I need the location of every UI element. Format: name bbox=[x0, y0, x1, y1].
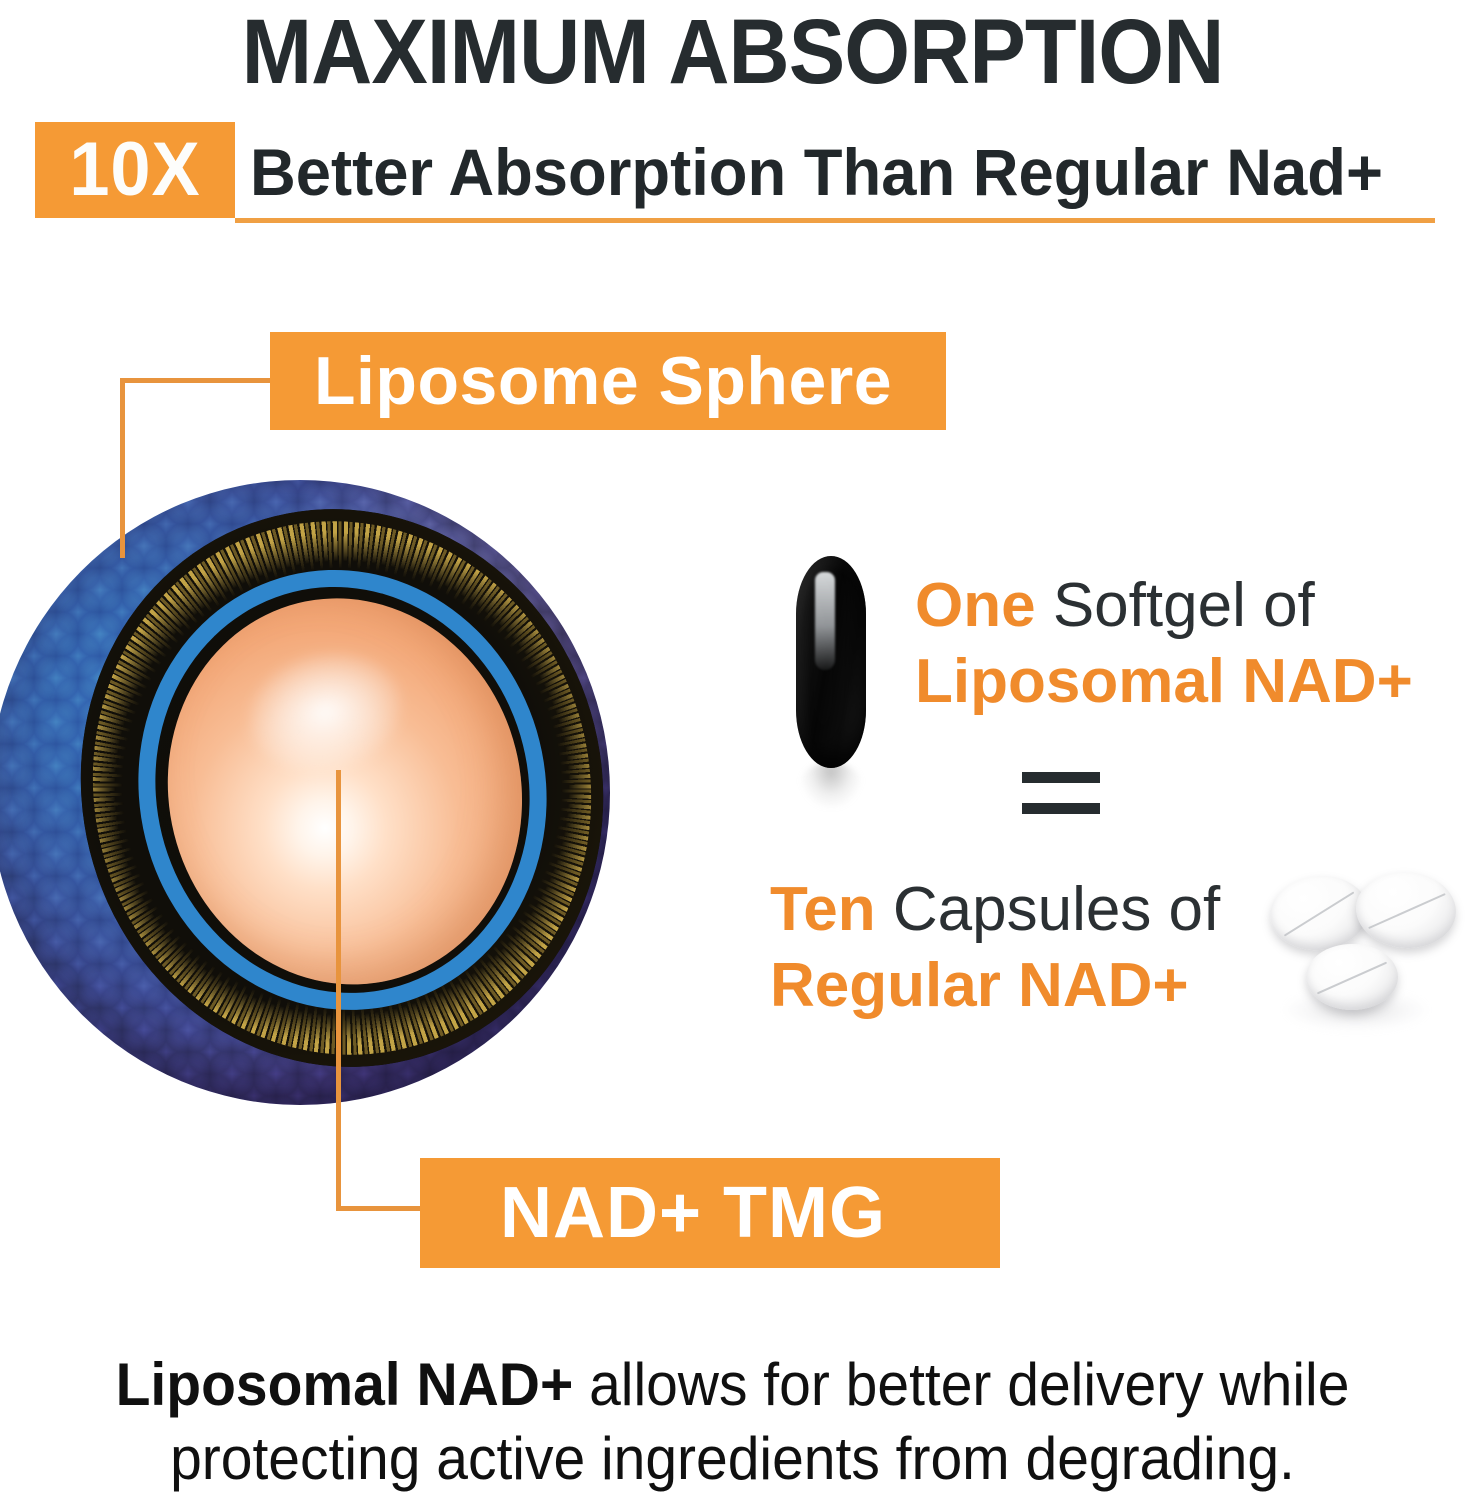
comparison-top-text: One Softgel of Liposomal NAD+ bbox=[915, 568, 1413, 720]
tablet-right bbox=[1353, 869, 1458, 952]
tablets-image bbox=[1268, 862, 1458, 1052]
leader-line-liposome-horizontal bbox=[120, 378, 272, 383]
product-infographic: MAXIMUM ABSORPTION 10X Better Absorption… bbox=[0, 0, 1465, 1494]
header-divider bbox=[235, 218, 1435, 223]
core-highlight bbox=[236, 637, 414, 787]
tablet-front bbox=[1306, 944, 1398, 1010]
page-title: MAXIMUM ABSORPTION bbox=[59, 2, 1407, 102]
comparison-top-rest: Softgel of bbox=[1036, 571, 1315, 640]
subtitle-text: Better Absorption Than Regular Nad+ bbox=[250, 126, 1383, 218]
callout-liposome-sphere-label: Liposome Sphere bbox=[314, 342, 892, 420]
leader-line-liposome-vertical bbox=[120, 378, 125, 558]
footer-bold-lead: Liposomal NAD+ bbox=[116, 1351, 574, 1418]
footer-line2: protecting active ingredients from degra… bbox=[170, 1425, 1295, 1492]
comparison-top-emphasis: One bbox=[915, 571, 1036, 640]
comparison-bottom-rest: Capsules of bbox=[876, 875, 1221, 944]
subtitle-row: 10X Better Absorption Than Regular Nad+ bbox=[35, 122, 1435, 222]
multiplier-badge: 10X bbox=[35, 122, 235, 218]
equals-sign-icon bbox=[1022, 772, 1100, 814]
callout-liposome-sphere: Liposome Sphere bbox=[270, 332, 946, 430]
leader-line-nadtmg-horizontal bbox=[336, 1206, 424, 1211]
footer-rest-line1: allows for better delivery while bbox=[573, 1351, 1349, 1418]
liposome-illustration bbox=[0, 480, 610, 1105]
comparison-bottom-product: Regular NAD+ bbox=[770, 951, 1189, 1020]
softgel-reflection bbox=[800, 762, 862, 808]
callout-nad-tmg-label: NAD+ TMG bbox=[500, 1172, 886, 1254]
comparison-bottom-text: Ten Capsules of Regular NAD+ bbox=[770, 872, 1220, 1024]
leader-line-nadtmg-vertical bbox=[336, 770, 341, 1210]
comparison-top-product: Liposomal NAD+ bbox=[915, 647, 1413, 716]
softgel-highlight bbox=[815, 572, 835, 670]
tablet-score-line bbox=[1317, 962, 1387, 995]
multiplier-badge-label: 10X bbox=[40, 122, 230, 218]
tablet-score-line bbox=[1368, 893, 1446, 929]
softgel-capsule-image bbox=[796, 556, 866, 768]
footer-caption: Liposomal NAD+ allows for better deliver… bbox=[94, 1348, 1372, 1494]
comparison-bottom-emphasis: Ten bbox=[770, 875, 876, 944]
tablet-score-line bbox=[1284, 891, 1355, 936]
callout-nad-tmg: NAD+ TMG bbox=[420, 1158, 1000, 1268]
